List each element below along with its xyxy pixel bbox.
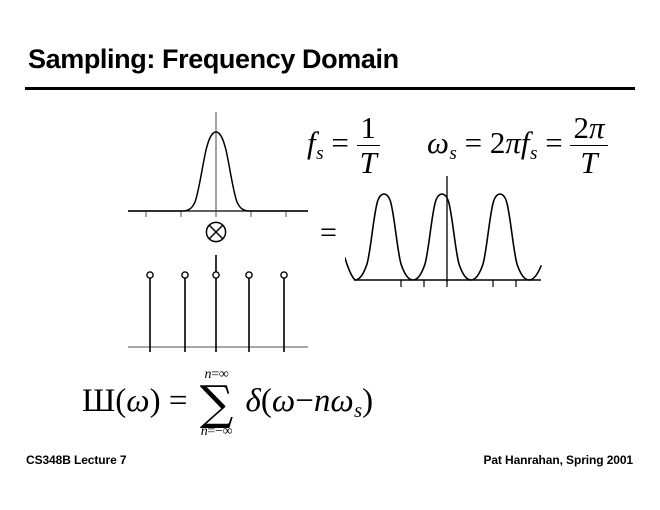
- footer-course-label: CS348B Lecture 7: [26, 453, 126, 467]
- page-title: Sampling: Frequency Domain: [28, 44, 399, 75]
- formula-ws-equals-2: =: [545, 125, 562, 160]
- spectrum-tick-marks: [146, 211, 286, 217]
- comb-impulse-head: [281, 272, 287, 278]
- equals-operator: =: [320, 216, 337, 250]
- delta-symbol: δ: [246, 383, 261, 419]
- formula-ws-pi: π: [505, 125, 521, 160]
- chart-comb-svg: [118, 255, 318, 355]
- delta-arg-minus: −: [295, 383, 314, 419]
- formula-ws-fraction: 2π T: [570, 112, 607, 179]
- delta-arg-n: n: [314, 383, 331, 419]
- summation-lower-limit: n=−∞: [200, 425, 234, 439]
- summation-lower-rest: =−∞: [207, 424, 232, 439]
- formula-fs-numerator: 1: [357, 112, 380, 144]
- delta-arg-omega-s: ω: [330, 383, 353, 419]
- formula-ws-numerator: 2π: [570, 112, 607, 144]
- formula-ws-num-pi: π: [589, 110, 605, 145]
- otimes-icon: [203, 219, 229, 245]
- comb-impulse-head: [246, 272, 252, 278]
- comb-impulse-head: [147, 272, 153, 278]
- formula-fs-fraction: 1 T: [357, 112, 380, 179]
- shah-symbol: Ш: [82, 383, 115, 419]
- formula-ws-equals: =: [465, 125, 482, 160]
- comb-impulse-head: [182, 272, 188, 278]
- formula-ws-f: f: [521, 125, 530, 160]
- replicated-gaussian-curves: [355, 194, 541, 280]
- shah-close-paren: ): [150, 383, 161, 419]
- chart-spectrum: [118, 108, 318, 220]
- formula-ws-subscript: s: [449, 143, 456, 164]
- delta-arg-open: (: [261, 383, 272, 419]
- replicated-tick-marks: [401, 280, 516, 287]
- formula-ws-num-two: 2: [573, 110, 589, 145]
- chart-spectrum-svg: [118, 108, 318, 220]
- formula-ws-f-subscript: s: [530, 143, 537, 164]
- shah-omega: ω: [126, 383, 149, 419]
- delta-arg-close: ): [362, 383, 373, 419]
- shah-open-paren: (: [115, 383, 126, 419]
- spectrum-gaussian-curve: [128, 132, 308, 211]
- formula-ws-denominator: T: [570, 145, 607, 179]
- chart-impulse-comb: [118, 255, 318, 355]
- footer-author-label: Pat Hanrahan, Spring 2001: [483, 453, 633, 467]
- delta-arg-subscript: s: [354, 400, 362, 422]
- formula-angular-frequency: ωs = 2πfs = 2π T: [427, 112, 608, 179]
- slide-canvas: Sampling: Frequency Domain fs = 1 T ωs =…: [0, 0, 660, 510]
- formula-fs-equals: =: [331, 125, 348, 160]
- summation-block: n=∞ ∑ n=−∞: [200, 368, 234, 439]
- chart-replicated-svg: [345, 172, 560, 297]
- comb-stems: [150, 255, 284, 352]
- summation-sigma-glyph: ∑: [200, 382, 234, 425]
- shah-comb-equation: Ш(ω) = n=∞ ∑ n=−∞ δ(ω−nωs): [82, 368, 373, 439]
- comb-impulse-heads: [147, 272, 287, 278]
- title-divider: [25, 87, 635, 90]
- chart-replicated-spectrum: [345, 172, 560, 297]
- replicated-edge-tail-left: [345, 258, 355, 280]
- comb-impulse-head: [213, 272, 219, 278]
- shah-equals: =: [169, 383, 188, 419]
- formula-ws-symbol: ω: [427, 125, 449, 160]
- convolution-operator-icon: [203, 219, 229, 245]
- delta-arg-omega: ω: [272, 383, 295, 419]
- formula-ws-two: 2: [490, 125, 506, 160]
